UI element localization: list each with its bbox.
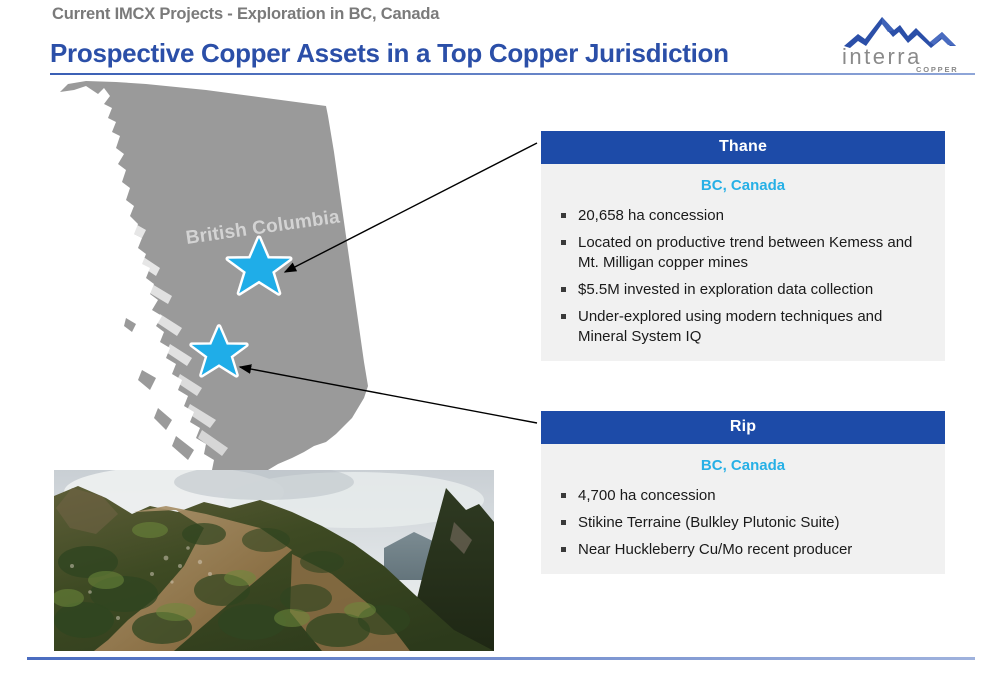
list-item: Located on productive trend between Keme… xyxy=(557,233,929,273)
interra-copper-logo: interra COPPER xyxy=(838,12,966,74)
project-site-photo xyxy=(54,470,494,651)
card-bullets-thane: 20,658 ha concession Located on producti… xyxy=(541,206,945,347)
slide-canvas: Current IMCX Projects - Exploration in B… xyxy=(0,0,1000,674)
title-divider xyxy=(50,73,975,75)
card-bullets-rip: 4,700 ha concession Stikine Terraine (Bu… xyxy=(541,486,945,560)
list-item: Under-explored using modern techniques a… xyxy=(557,307,929,347)
list-item: 20,658 ha concession xyxy=(557,206,929,226)
project-card-thane[interactable]: Thane BC, Canada 20,658 ha concession Lo… xyxy=(541,131,945,361)
slide-eyebrow: Current IMCX Projects - Exploration in B… xyxy=(52,5,439,24)
list-item: $5.5M invested in exploration data colle… xyxy=(557,280,929,300)
card-title-thane: Thane xyxy=(541,131,945,164)
project-card-rip[interactable]: Rip BC, Canada 4,700 ha concession Stiki… xyxy=(541,411,945,574)
logo-wordmark: interra xyxy=(842,44,922,69)
card-subtitle-thane: BC, Canada xyxy=(541,177,945,194)
page-title: Prospective Copper Assets in a Top Coppe… xyxy=(50,38,729,69)
svg-text:interra: interra xyxy=(842,44,922,69)
list-item: Near Huckleberry Cu/Mo recent producer xyxy=(557,540,929,560)
svg-text:COPPER: COPPER xyxy=(916,65,958,74)
card-body-rip: BC, Canada 4,700 ha concession Stikine T… xyxy=(541,444,945,574)
footer-divider xyxy=(27,657,975,660)
card-subtitle-rip: BC, Canada xyxy=(541,457,945,474)
british-columbia-map: British Columbia xyxy=(46,78,466,490)
card-body-thane: BC, Canada 20,658 ha concession Located … xyxy=(541,164,945,361)
card-title-rip: Rip xyxy=(541,411,945,444)
logo-tagline: COPPER xyxy=(916,65,958,74)
list-item: Stikine Terraine (Bulkley Plutonic Suite… xyxy=(557,513,929,533)
list-item: 4,700 ha concession xyxy=(557,486,929,506)
